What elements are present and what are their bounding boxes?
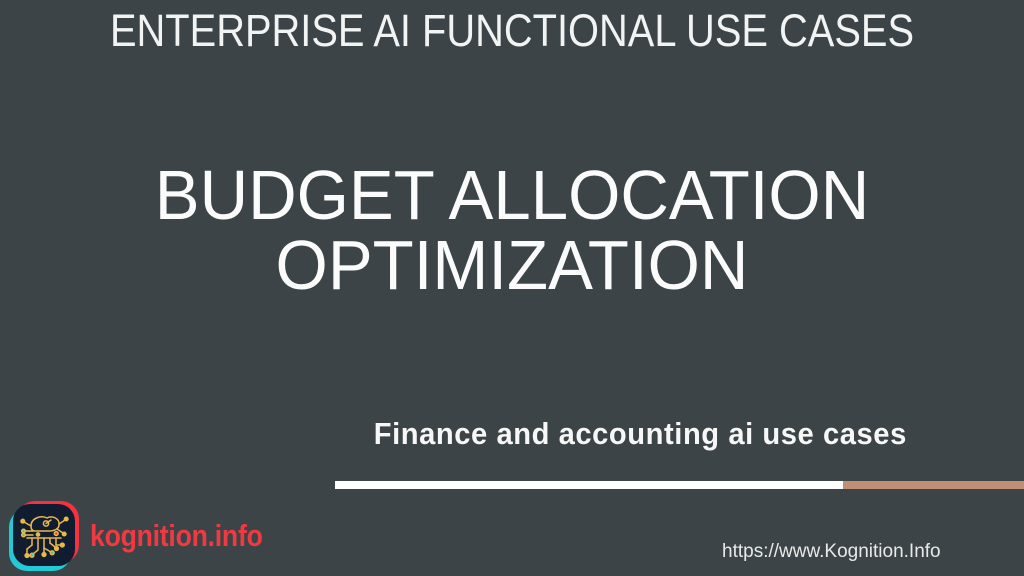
page-subtitle: Finance and accounting ai use cases [316,416,965,452]
divider-segment-accent [843,481,1024,489]
brand-mark-core [13,504,75,566]
brand-lockup: kognition.info [8,500,291,572]
brand-wordmark: kognition.info [90,520,263,552]
slide-canvas: ENTERPRISE AI FUNCTIONAL USE CASES BUDGE… [0,0,1024,576]
circuit-brain-icon [8,500,80,572]
slide-eyebrow-heading: ENTERPRISE AI FUNCTIONAL USE CASES [59,6,965,56]
circuit-brain-glyph [13,504,75,566]
page-title: BUDGET ALLOCATION OPTIMIZATION [20,160,1003,300]
page-title-line-2: OPTIMIZATION [20,230,1003,300]
divider-rule [335,481,1024,489]
page-title-line-1: BUDGET ALLOCATION [20,160,1003,230]
footer-url: https://www.Kognition.Info [722,541,941,563]
divider-segment-white [335,481,843,489]
